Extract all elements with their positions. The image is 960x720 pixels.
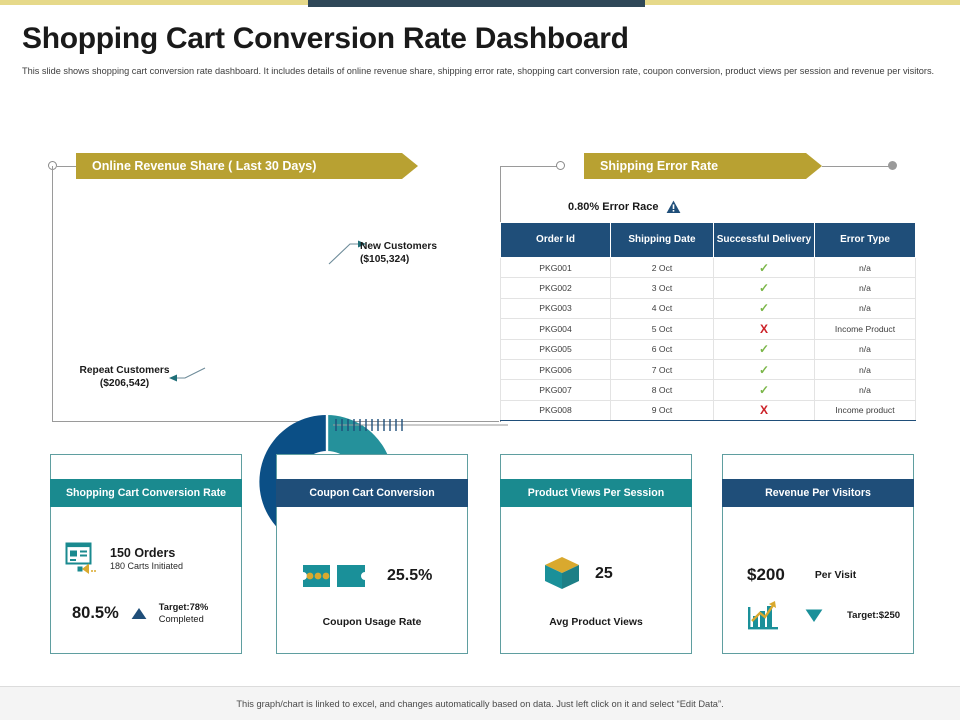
table-row: PKG0045 OctXIncome Product	[501, 319, 916, 339]
conversion-orders-row: 150 Orders 180 Carts Initiated	[65, 541, 183, 575]
cell-order-id: PKG001	[501, 258, 611, 278]
cell-error-type: n/a	[815, 298, 916, 318]
cell-error-type: n/a	[815, 278, 916, 298]
cell-shipping-date: 2 Oct	[611, 258, 714, 278]
revenue-target-row: Target:$250	[747, 599, 900, 631]
repeat-customers-value: ($206,542)	[100, 378, 149, 389]
table-row: PKG0056 Oct✓n/a	[501, 339, 916, 359]
cell-shipping-date: 8 Oct	[611, 380, 714, 400]
cell-error-type: n/a	[815, 359, 916, 379]
page-title: Shopping Cart Conversion Rate Dashboard	[22, 22, 938, 55]
cell-successful-delivery: ✓	[714, 278, 815, 298]
repeat-customers-name: Repeat Customers	[79, 365, 169, 376]
check-icon: ✓	[759, 342, 769, 356]
table-row: PKG0012 Oct✓n/a	[501, 258, 916, 278]
page-subtitle: This slide shows shopping cart conversio…	[22, 65, 940, 78]
kpi-card-shopping-cart-conversion-rate[interactable]: Shopping Cart Conversion Rate 150 Orders…	[50, 454, 242, 654]
error-rate-text: 0.80% Error Race	[568, 201, 659, 213]
decorative-hatch-line	[333, 418, 508, 432]
conversion-carts-initiated: 180 Carts Initiated	[110, 561, 183, 571]
cell-error-type: n/a	[815, 380, 916, 400]
table-row: PKG0078 Oct✓n/a	[501, 380, 916, 400]
revenue-per-visit-label: Per Visit	[815, 570, 856, 581]
conversion-percent-value: 80.5%	[72, 604, 119, 623]
conversion-target-status: Completed	[159, 614, 208, 626]
warning-triangle-icon	[666, 200, 681, 214]
kpi-card-coupon-body: 25.5% Coupon Usage Rate	[277, 507, 467, 653]
new-customers-name: New Customers	[360, 241, 437, 252]
cell-shipping-date: 9 Oct	[611, 400, 714, 420]
revenue-amount-row: $200 Per Visit	[747, 565, 856, 585]
footer-note: This graph/chart is linked to excel, and…	[0, 699, 960, 709]
revenue-amount-value: $200	[747, 565, 785, 585]
triangle-down-icon	[805, 608, 823, 623]
bar-chart-growth-icon	[747, 599, 781, 631]
views-value-row: 25	[543, 555, 613, 593]
header: Shopping Cart Conversion Rate Dashboard …	[22, 22, 938, 78]
conversion-target-label: Target:78%	[159, 602, 208, 614]
conversion-percent-row: 80.5% Target:78% Completed	[72, 602, 208, 625]
table-row: PKG0067 Oct✓n/a	[501, 359, 916, 379]
check-icon: ✓	[759, 363, 769, 377]
views-average-value: 25	[595, 565, 613, 583]
kpi-card-conversion-body: 150 Orders 180 Carts Initiated 80.5% Tar…	[51, 507, 241, 653]
cell-shipping-date: 7 Oct	[611, 359, 714, 379]
top-bar-navy	[308, 0, 645, 7]
cell-error-type: n/a	[815, 258, 916, 278]
top-bar-gold-left	[0, 0, 308, 5]
cell-successful-delivery: X	[714, 319, 815, 339]
kpi-card-revenue-title: Revenue Per Visitors	[722, 479, 914, 507]
cell-successful-delivery: X	[714, 400, 815, 420]
kpi-card-coupon-cart-conversion[interactable]: Coupon Cart Conversion 25.5% Coupon Usag…	[276, 454, 468, 654]
cell-order-id: PKG006	[501, 359, 611, 379]
cell-error-type: Income product	[815, 400, 916, 420]
cell-order-id: PKG002	[501, 278, 611, 298]
shipping-table-body: PKG0012 Oct✓n/aPKG0023 Oct✓n/aPKG0034 Oc…	[501, 258, 916, 421]
kpi-card-coupon-title: Coupon Cart Conversion	[276, 479, 468, 507]
cell-order-id: PKG003	[501, 298, 611, 318]
top-bar-gold-right	[645, 0, 960, 5]
product-box-icon	[543, 555, 581, 593]
coupon-percent-value: 25.5%	[387, 567, 432, 585]
column-header-successful-delivery: Successful Delivery	[714, 223, 815, 258]
cell-error-type: Income Product	[815, 319, 916, 339]
donut-label-repeat-customers: Repeat Customers ($206,542)	[57, 365, 192, 391]
kpi-card-conversion-title: Shopping Cart Conversion Rate	[50, 479, 242, 507]
cell-error-type: n/a	[815, 339, 916, 359]
column-header-error-type: Error Type	[815, 223, 916, 258]
cell-successful-delivery: ✓	[714, 359, 815, 379]
cell-shipping-date: 4 Oct	[611, 298, 714, 318]
shipping-error-table: Order Id Shipping Date Successful Delive…	[500, 222, 916, 421]
cell-order-id: PKG007	[501, 380, 611, 400]
cell-successful-delivery: ✓	[714, 339, 815, 359]
cross-icon: X	[760, 403, 768, 417]
avg-product-views-caption: Avg Product Views	[501, 617, 691, 628]
cell-order-id: PKG004	[501, 319, 611, 339]
coupon-value-row: 25.5%	[303, 561, 432, 591]
coupon-usage-rate-caption: Coupon Usage Rate	[277, 617, 467, 628]
new-customers-value: ($105,324)	[360, 254, 409, 265]
table-header-row: Order Id Shipping Date Successful Delive…	[501, 223, 916, 258]
cell-successful-delivery: ✓	[714, 258, 815, 278]
donut-label-new-customers: New Customers ($105,324)	[360, 241, 490, 267]
table-row: PKG0089 OctXIncome product	[501, 400, 916, 420]
cross-icon: X	[760, 322, 768, 336]
column-header-shipping-date: Shipping Date	[611, 223, 714, 258]
check-icon: ✓	[759, 383, 769, 397]
check-icon: ✓	[759, 261, 769, 275]
kpi-card-views-body: 25 Avg Product Views	[501, 507, 691, 653]
triangle-up-icon	[131, 607, 147, 620]
top-accent-bar	[0, 0, 960, 7]
table-row: PKG0034 Oct✓n/a	[501, 298, 916, 318]
cell-shipping-date: 6 Oct	[611, 339, 714, 359]
conversion-orders-count: 150 Orders	[110, 546, 183, 561]
coupon-ticket-icon	[303, 561, 365, 591]
browser-megaphone-icon	[65, 541, 99, 575]
check-icon: ✓	[759, 301, 769, 315]
kpi-card-views-title: Product Views Per Session	[500, 479, 692, 507]
column-header-order-id: Order Id	[501, 223, 611, 258]
cell-order-id: PKG005	[501, 339, 611, 359]
error-rate-summary: 0.80% Error Race	[568, 200, 681, 214]
kpi-card-revenue-per-visitors[interactable]: Revenue Per Visitors $200 Per Visit Targ…	[722, 454, 914, 654]
kpi-card-product-views-per-session[interactable]: Product Views Per Session 25 Avg Product…	[500, 454, 692, 654]
cell-successful-delivery: ✓	[714, 298, 815, 318]
cell-successful-delivery: ✓	[714, 380, 815, 400]
check-icon: ✓	[759, 281, 769, 295]
kpi-card-revenue-body: $200 Per Visit Target:$250	[723, 507, 913, 653]
table-row: PKG0023 Oct✓n/a	[501, 278, 916, 298]
cell-shipping-date: 5 Oct	[611, 319, 714, 339]
cell-shipping-date: 3 Oct	[611, 278, 714, 298]
cell-order-id: PKG008	[501, 400, 611, 420]
revenue-target-label: Target:$250	[847, 610, 900, 621]
